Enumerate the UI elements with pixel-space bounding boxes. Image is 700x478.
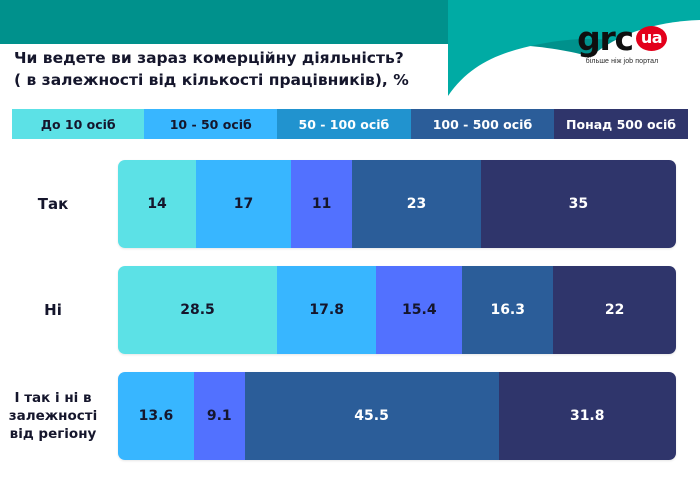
bar-segment[interactable]: 11 — [291, 160, 352, 248]
legend-item-label: Понад 500 осіб — [566, 117, 676, 132]
row-label-line: І так і ні в — [0, 389, 106, 407]
bar-segment[interactable]: 23 — [352, 160, 480, 248]
bar-segment[interactable]: 16.3 — [462, 266, 553, 354]
bar-segment[interactable]: 14 — [118, 160, 196, 248]
bar-segment-value: 13.6 — [139, 408, 174, 424]
legend-item-3[interactable]: 100 - 500 осіб — [411, 109, 554, 139]
row-label-line: від регіону — [0, 425, 106, 443]
bar-segment[interactable]: 17.8 — [277, 266, 376, 354]
row-label: Ні — [0, 301, 118, 320]
bar-segment-value: 17.8 — [309, 302, 344, 318]
legend-item-label: 10 - 50 осіб — [170, 117, 252, 132]
bar-segment-value: 15.4 — [402, 302, 437, 318]
chart-row: Ні28.517.815.416.322 — [0, 266, 700, 354]
chart-row: І так і ні взалежностівід регіону13.69.1… — [0, 372, 700, 460]
bar-segment[interactable]: 17 — [196, 160, 291, 248]
legend-item-0[interactable]: До 10 осіб — [12, 109, 144, 139]
bar-segment[interactable]: 15.4 — [376, 266, 462, 354]
chart-plot-area: Так1417112335Ні28.517.815.416.322І так і… — [0, 160, 700, 478]
stacked-bar: 1417112335 — [118, 160, 676, 248]
legend-item-2[interactable]: 50 - 100 осіб — [277, 109, 411, 139]
bar-segment[interactable]: 13.6 — [118, 372, 194, 460]
legend-item-4[interactable]: Понад 500 осіб — [554, 109, 688, 139]
bar-segment-value: 23 — [407, 196, 426, 212]
chart-legend: До 10 осіб10 - 50 осіб50 - 100 осіб100 -… — [12, 109, 688, 139]
legend-item-label: 50 - 100 осіб — [299, 117, 390, 132]
stacked-bar: 13.69.145.531.8 — [118, 372, 676, 460]
logo-ua-badge: ua — [636, 26, 667, 51]
bar-segment-value: 35 — [569, 196, 588, 212]
logo-tagline: більше ніж job портал — [558, 58, 686, 65]
bar-segment[interactable]: 28.5 — [118, 266, 277, 354]
row-label-line: залежності — [0, 407, 106, 425]
row-label: Так — [0, 195, 118, 214]
bar-segment[interactable]: 31.8 — [499, 372, 676, 460]
legend-item-1[interactable]: 10 - 50 осіб — [144, 109, 276, 139]
page-title: Чи ведете ви зараз комерційну діяльність… — [14, 47, 484, 91]
row-label-line: Так — [0, 195, 106, 214]
page-title-line-2: ( в залежності від кількості працівників… — [14, 69, 484, 91]
page-title-line-1: Чи ведете ви зараз комерційну діяльність… — [14, 47, 484, 69]
legend-item-label: 100 - 500 осіб — [433, 117, 532, 132]
stacked-bar: 28.517.815.416.322 — [118, 266, 676, 354]
bar-segment-value: 9.1 — [207, 408, 232, 424]
bar-segment-value: 16.3 — [490, 302, 525, 318]
logo-mark: grc ua — [558, 22, 686, 55]
bar-segment-value: 11 — [312, 196, 331, 212]
bar-segment[interactable]: 22 — [553, 266, 676, 354]
brand-logo: grc ua більше ніж job портал — [558, 22, 686, 65]
logo-wordmark: grc — [577, 22, 633, 55]
bar-segment-value: 14 — [147, 196, 166, 212]
bar-segment[interactable]: 35 — [481, 160, 676, 248]
bar-segment[interactable]: 9.1 — [194, 372, 245, 460]
bar-segment-value: 28.5 — [180, 302, 215, 318]
row-label: І так і ні взалежностівід регіону — [0, 389, 118, 443]
legend-item-label: До 10 осіб — [41, 117, 116, 132]
bar-segment-value: 17 — [234, 196, 253, 212]
bar-segment[interactable]: 45.5 — [245, 372, 499, 460]
bar-segment-value: 45.5 — [354, 408, 389, 424]
bar-segment-value: 22 — [605, 302, 624, 318]
row-label-line: Ні — [0, 301, 106, 320]
bar-segment-value: 31.8 — [570, 408, 605, 424]
chart-row: Так1417112335 — [0, 160, 700, 248]
